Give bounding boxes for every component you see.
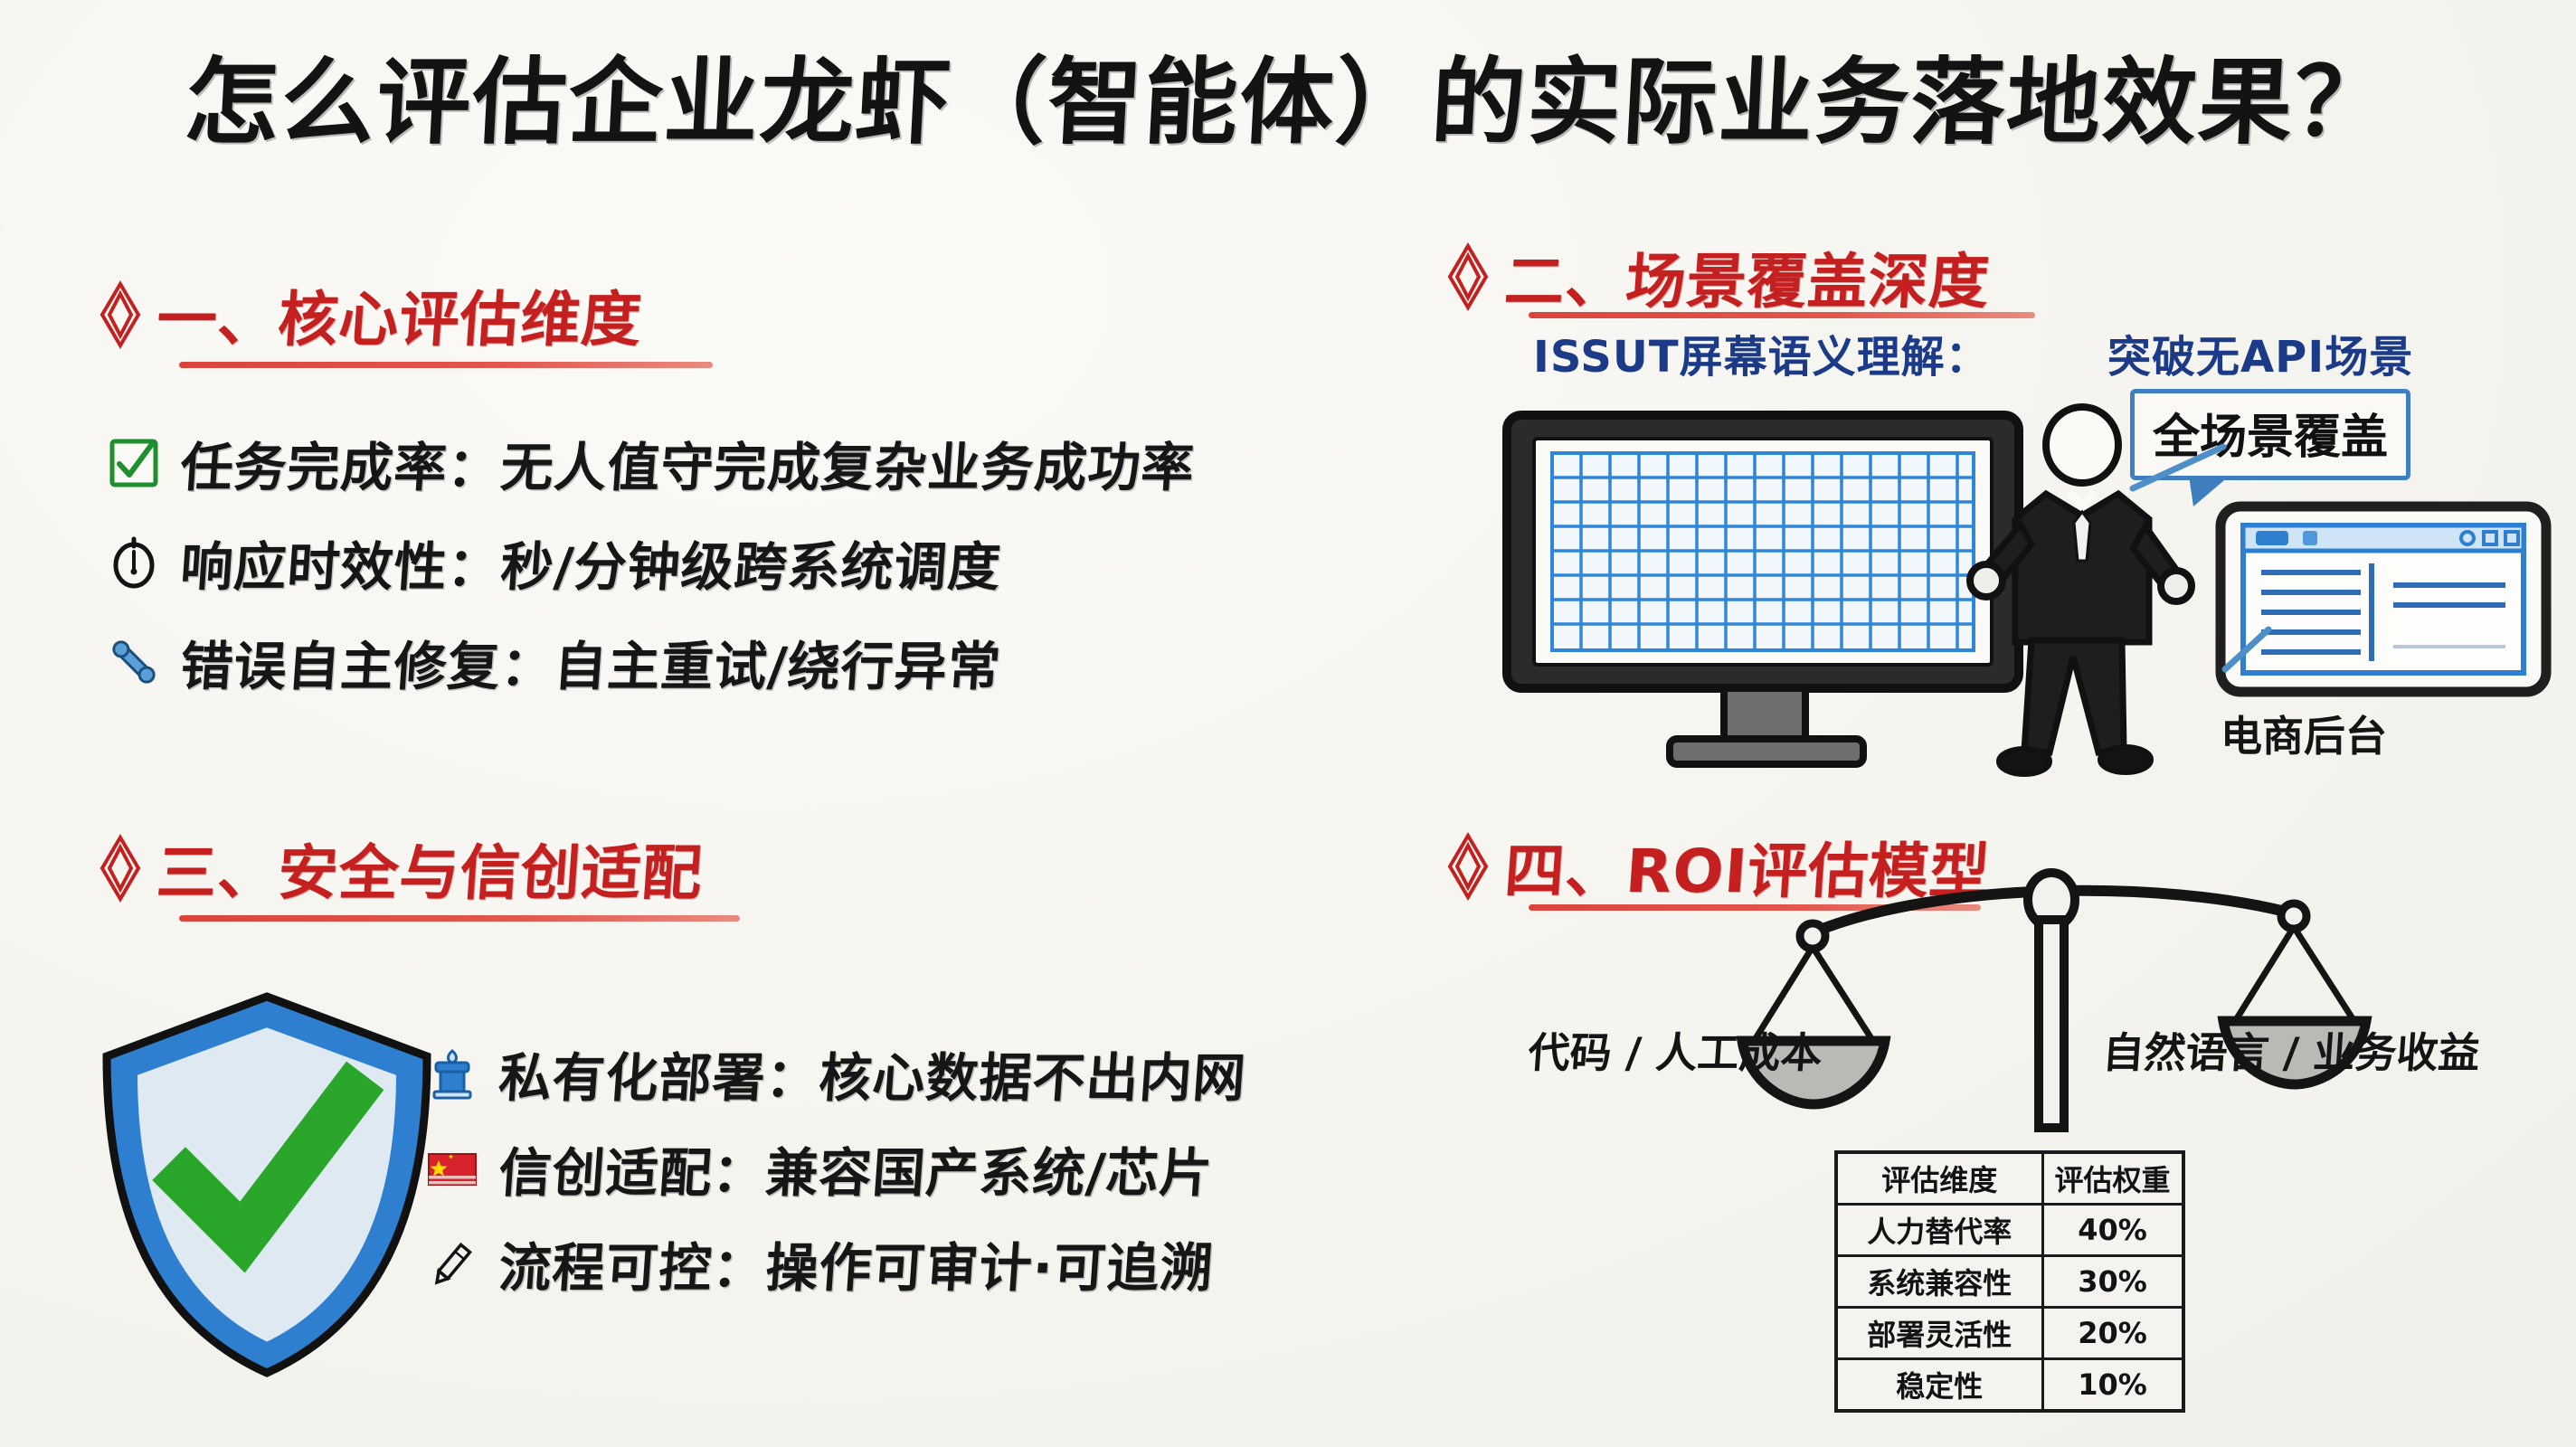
blue-shield-check-icon (90, 986, 443, 1384)
table-cell-weight: 40% (2042, 1205, 2183, 1256)
diamond-bullet-icon (99, 281, 141, 348)
pencil-ruler-icon (425, 1236, 479, 1291)
table-header-row: 评估维度 评估权重 (1836, 1152, 2183, 1205)
core-item-1: 任务完成率：无人值守完成复杂业务成功率 (107, 425, 1195, 501)
balance-scale-icon (1773, 864, 2334, 1162)
china-flag-icon (425, 1141, 479, 1196)
security-item-1: 私有化部署：核心数据不出内网 (425, 1036, 1246, 1111)
diamond-bullet-icon (1447, 243, 1489, 310)
security-item-2-text: 信创适配：兼容国产系统/芯片 (497, 1130, 1216, 1206)
section-underline-coverage (1529, 312, 2035, 318)
core-item-1-text: 任务完成率：无人值守完成复杂业务成功率 (178, 425, 1198, 501)
core-item-3: 错误自主修复：自主重试/绕行异常 (107, 624, 1001, 700)
blue-server-lock-icon (425, 1046, 479, 1101)
core-item-3-text: 错误自主修复：自主重试/绕行异常 (178, 624, 1004, 700)
security-item-2: 信创适配：兼容国产系统/芯片 (425, 1130, 1213, 1206)
section-underline-security (179, 915, 740, 922)
tablet-caption: 电商后台 (2221, 704, 2387, 763)
section-heading-coverage: 二、场景覆盖深度 (1447, 233, 1990, 320)
roi-left-pan-label: 代码 / 人工成本 (1527, 1020, 1824, 1080)
core-item-2: 响应时效性：秒/分钟级跨系统调度 (107, 525, 1001, 601)
table-cell-weight: 30% (2042, 1256, 2183, 1308)
roi-weights-table: 评估维度 评估权重 人力替代率 40% 系统兼容性 30% 部署灵活性 20% … (1834, 1150, 2185, 1413)
table-header-weight: 评估权重 (2042, 1152, 2183, 1205)
table-cell-dimension: 人力替代率 (1836, 1205, 2042, 1256)
section-heading-security: 三、安全与信创适配 (99, 825, 703, 912)
security-item-3-text: 流程可控：操作可审计·可追溯 (497, 1225, 1217, 1301)
table-cell-weight: 20% (2042, 1308, 2183, 1359)
blue-wrench-icon (107, 635, 161, 689)
coverage-callout-right: 突破无API场景 (2107, 321, 2413, 384)
callout-connector-lines (2117, 434, 2316, 705)
security-item-3: 流程可控：操作可审计·可追溯 (425, 1225, 1214, 1301)
section-underline-core (179, 362, 713, 368)
section-heading-core: 一、核心评估维度 (99, 271, 642, 358)
table-row: 稳定性 10% (1836, 1359, 2183, 1412)
security-item-1-text: 私有化部署：核心数据不出内网 (497, 1036, 1249, 1111)
table-row: 部署灵活性 20% (1836, 1308, 2183, 1359)
green-checkbox-icon (107, 436, 161, 490)
table-row: 人力替代率 40% (1836, 1205, 2183, 1256)
section-title-coverage: 二、场景覆盖深度 (1502, 233, 1994, 320)
section-title-core: 一、核心评估维度 (155, 271, 646, 358)
table-cell-dimension: 稳定性 (1836, 1359, 2042, 1412)
table-cell-dimension: 系统兼容性 (1836, 1256, 2042, 1308)
page-title: 怎么评估企业龙虾（智能体）的实际业务落地效果？ (0, 25, 2576, 162)
roi-right-pan-label: 自然语言 / 业务收益 (2101, 1020, 2482, 1080)
table-cell-weight: 10% (2042, 1359, 2183, 1412)
diamond-bullet-icon (1447, 833, 1489, 900)
coverage-subtitle: ISSUT屏幕语义理解： (1533, 321, 1990, 384)
core-item-2-text: 响应时效性：秒/分钟级跨系统调度 (178, 525, 1004, 601)
table-header-dimension: 评估维度 (1836, 1152, 2042, 1205)
section-title-security: 三、安全与信创适配 (155, 825, 706, 912)
diamond-bullet-icon (99, 835, 141, 902)
table-row: 系统兼容性 30% (1836, 1256, 2183, 1308)
stopwatch-icon (107, 535, 161, 590)
table-cell-dimension: 部署灵活性 (1836, 1308, 2042, 1359)
